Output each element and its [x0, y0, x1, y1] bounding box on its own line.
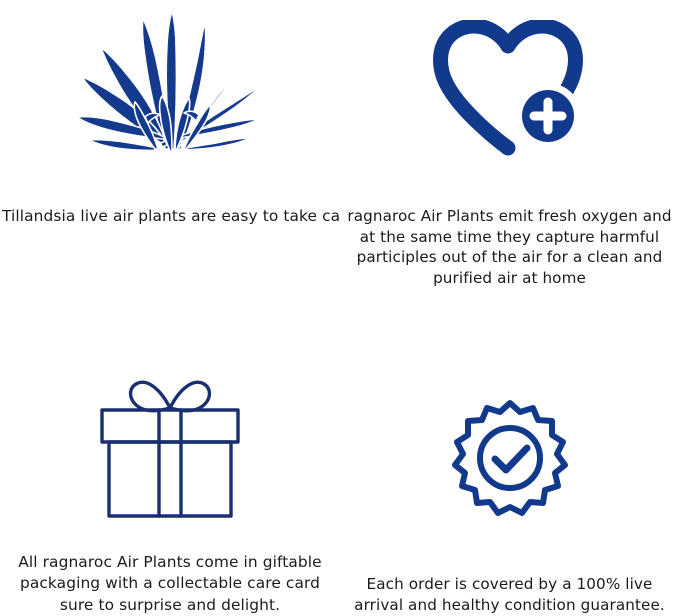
feature-card-air-purifying: ragnaroc Air Plants emit fresh oxygen an…: [340, 0, 679, 308]
heart-plus-icon: [430, 20, 590, 160]
feature-caption: Tillandsia live air plants are easy to t…: [0, 164, 340, 227]
feature-caption: ragnaroc Air Plants emit fresh oxygen an…: [340, 170, 679, 288]
air-plant-icon: [77, 9, 263, 159]
gift-box-icon: [92, 372, 248, 520]
air-plant-icon-wrapper: [0, 0, 340, 164]
quality-badge-check-icon-wrapper: [340, 308, 679, 554]
feature-card-live-arrival-guarantee: Each order is covered by a 100% live arr…: [340, 308, 679, 616]
quality-badge-check-icon: [448, 397, 572, 525]
heart-plus-icon-wrapper: [340, 0, 679, 170]
feature-card-air-plant: Tillandsia live air plants are easy to t…: [0, 0, 340, 308]
feature-caption: Each order is covered by a 100% live arr…: [340, 554, 679, 616]
feature-card-giftable-packaging: All ragnaroc Air Plants come in giftable…: [0, 308, 340, 616]
feature-grid: Tillandsia live air plants are easy to t…: [0, 0, 679, 616]
feature-caption: All ragnaroc Air Plants come in giftable…: [0, 538, 340, 616]
gift-box-icon-wrapper: [0, 308, 340, 538]
